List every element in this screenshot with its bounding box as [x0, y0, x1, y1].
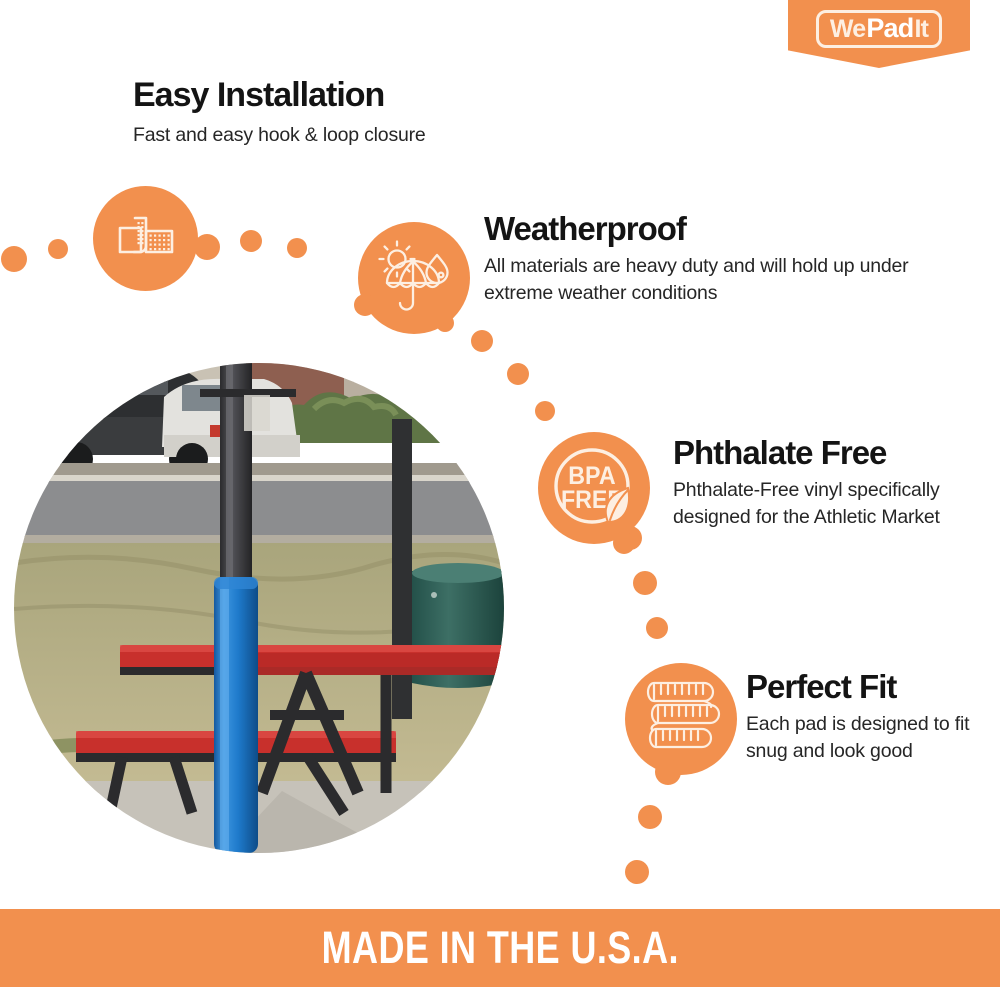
trail-dot — [646, 617, 668, 639]
feature-title-perfect-fit: Perfect Fit — [746, 670, 986, 705]
trail-dot — [613, 532, 635, 554]
feature-text-weatherproof: Weatherproof All materials are heavy dut… — [484, 212, 924, 308]
circle-nub — [655, 759, 681, 785]
made-in-usa-text: MADE IN THE U.S.A. — [321, 922, 678, 974]
brand-logo-frame: We Pad It — [816, 10, 942, 48]
brand-logo-part-pad: Pad — [865, 15, 914, 42]
tape-measure-icon — [625, 663, 737, 775]
hook-and-loop-icon — [93, 186, 198, 291]
infographic-page: We Pad It Easy Installation Fast and eas… — [0, 0, 1000, 987]
trail-dot — [287, 238, 307, 258]
bpa-free-leaf-icon: BPA FREE — [538, 432, 650, 544]
feature-title-phthalate-free: Phthalate Free — [673, 436, 973, 471]
brand-logo-part-we: We — [830, 17, 865, 42]
trail-dot — [633, 571, 657, 595]
feature-title-easy-installation: Easy Installation — [133, 78, 653, 114]
trail-dot — [625, 860, 649, 884]
made-in-usa-banner: MADE IN THE U.S.A. — [0, 909, 1000, 987]
feature-description-weatherproof: All materials are heavy duty and will ho… — [484, 253, 924, 308]
trail-dot — [638, 805, 662, 829]
brand-logo-part-it: It — [914, 17, 928, 42]
trail-dot — [535, 401, 555, 421]
trail-dot — [1, 246, 27, 272]
feature-title-weatherproof: Weatherproof — [484, 212, 924, 247]
feature-text-phthalate-free: Phthalate Free Phthalate-Free vinyl spec… — [673, 436, 973, 532]
feature-text-perfect-fit: Perfect Fit Each pad is designed to fit … — [746, 670, 986, 766]
product-photo-pole-pad — [14, 363, 504, 853]
feature-text-easy-installation: Easy Installation Fast and easy hook & l… — [133, 78, 653, 149]
trail-dot — [471, 330, 493, 352]
feature-description-perfect-fit: Each pad is designed to fit snug and loo… — [746, 711, 986, 766]
trail-dot — [48, 239, 68, 259]
feature-description-phthalate-free: Phthalate-Free vinyl specifically design… — [673, 477, 973, 532]
feature-description-easy-installation: Fast and easy hook & loop closure — [133, 122, 653, 150]
brand-logo-badge: We Pad It — [788, 0, 970, 68]
sun-umbrella-raindrop-icon — [358, 222, 470, 334]
trail-dot — [507, 363, 529, 385]
trail-dot — [240, 230, 262, 252]
trail-dot — [194, 234, 220, 260]
circle-nub — [354, 294, 376, 316]
